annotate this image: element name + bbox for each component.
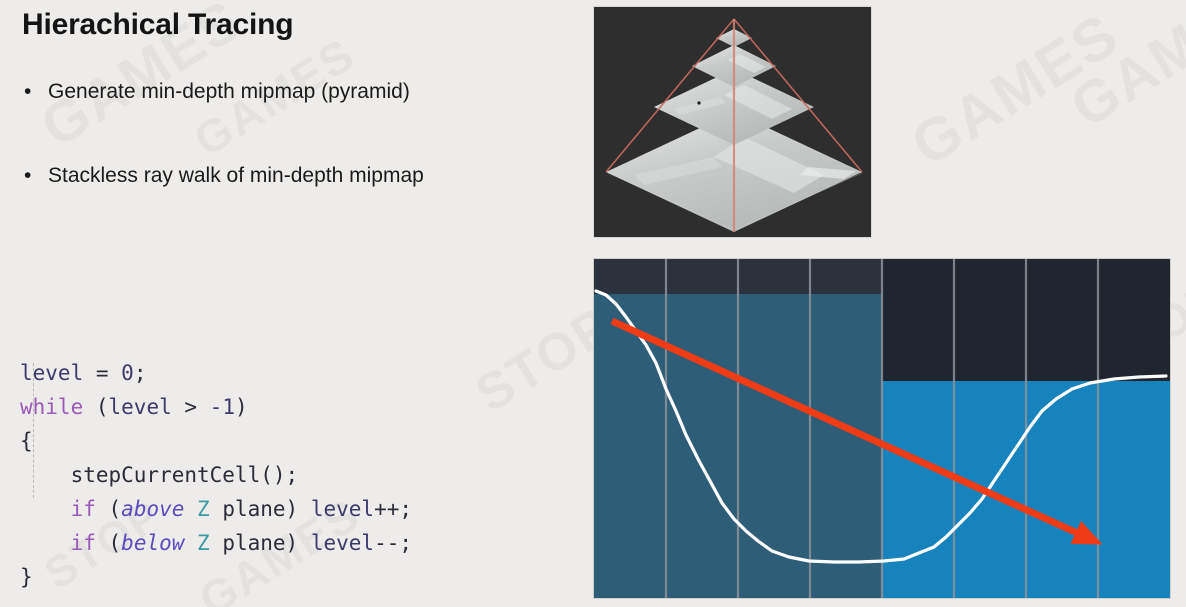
code-token: above — [121, 497, 184, 521]
code-line: { — [20, 424, 560, 458]
bullet-list: • Generate min-depth mipmap (pyramid) • … — [22, 78, 582, 246]
code-token: --; — [374, 531, 412, 555]
code-block: level = 0;while (level > -1){ stepCurren… — [20, 288, 560, 594]
code-token — [184, 497, 197, 521]
pyramid-marker-dot — [697, 101, 700, 104]
code-line: level = 0; — [20, 356, 560, 390]
bullet-marker-icon: • — [22, 162, 48, 190]
indent-guide — [33, 363, 34, 498]
pyramid-svg — [594, 7, 871, 237]
code-token: plane) — [210, 497, 311, 521]
code-token — [20, 497, 71, 521]
code-token: level — [20, 361, 83, 385]
code-token: if — [71, 531, 96, 555]
code-token: if — [71, 497, 96, 521]
code-token: level — [311, 531, 374, 555]
code-token: ; — [134, 361, 147, 385]
depth-buffer-visualization — [593, 258, 1171, 599]
code-line: stepCurrentCell(); — [20, 458, 560, 492]
watermark-text: GAMES — [1059, 0, 1186, 141]
bullet-text: Generate min-depth mipmap (pyramid) — [48, 78, 410, 106]
code-token: below — [121, 531, 184, 555]
code-token: level — [109, 395, 172, 419]
code-token — [20, 531, 71, 555]
list-item: • Stackless ray walk of min-depth mipmap — [22, 162, 582, 190]
code-token: = — [83, 361, 121, 385]
code-token: } — [20, 565, 33, 589]
code-token — [184, 531, 197, 555]
code-token: level — [311, 497, 374, 521]
mipmap-pyramid-image — [593, 6, 872, 238]
code-token: { — [20, 429, 33, 453]
bullet-marker-icon: • — [22, 78, 48, 106]
code-token: stepCurrentCell — [20, 463, 260, 487]
code-token: Z — [197, 531, 210, 555]
code-token: > — [172, 395, 210, 419]
code-line: if (below Z plane) level--; — [20, 526, 560, 560]
page-title: Hierachical Tracing — [22, 8, 293, 42]
code-line: } — [20, 560, 560, 594]
code-token: (); — [260, 463, 298, 487]
code-token: ( — [83, 395, 108, 419]
code-token: ) — [235, 395, 248, 419]
code-token: ( — [96, 531, 121, 555]
watermark-text: GAMES — [899, 0, 1131, 180]
code-token: 0 — [121, 361, 134, 385]
code-token: while — [20, 395, 83, 419]
code-line: while (level > -1) — [20, 390, 560, 424]
code-token: ( — [96, 497, 121, 521]
code-token: Z — [197, 497, 210, 521]
list-item: • Generate min-depth mipmap (pyramid) — [22, 78, 582, 106]
code-token: plane) — [210, 531, 311, 555]
code-line: if (above Z plane) level++; — [20, 492, 560, 526]
depth-visualization-svg — [594, 259, 1170, 598]
code-token: -1 — [210, 395, 235, 419]
bullet-text: Stackless ray walk of min-depth mipmap — [48, 162, 424, 190]
code-token: ++; — [374, 497, 412, 521]
